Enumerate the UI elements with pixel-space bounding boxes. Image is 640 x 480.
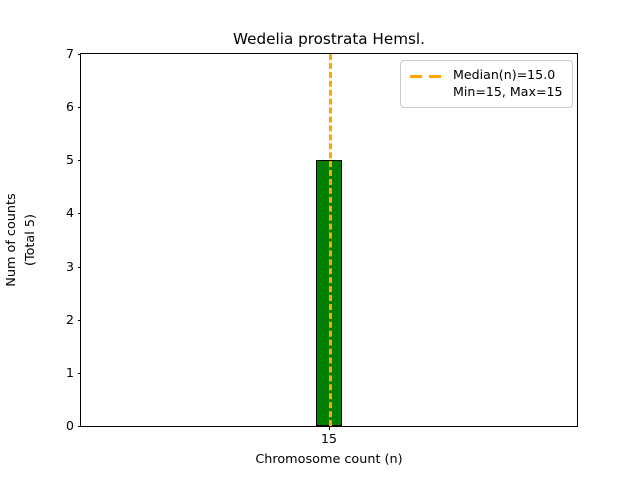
legend: Median(n)=15.0 Min=15, Max=15: [400, 60, 573, 108]
legend-label: Median(n)=15.0 Min=15, Max=15: [453, 67, 563, 100]
y-tick-label: 3: [66, 260, 74, 273]
x-axis-label: Chromosome count (n): [80, 452, 578, 467]
x-tick-label: 15: [321, 433, 337, 446]
x-tick-mark: [329, 426, 330, 430]
figure-canvas: Wedelia prostrata Hemsl. Num of counts (…: [0, 0, 640, 480]
y-tick-label: 2: [66, 313, 74, 326]
plot-area: 01234567 15: [80, 53, 578, 427]
y-tick-label: 1: [66, 367, 74, 380]
median-line: [329, 54, 332, 426]
legend-median-dash-icon: [410, 69, 444, 85]
y-tick-label: 6: [66, 101, 74, 114]
y-tick-label: 7: [66, 48, 74, 61]
y-tick-mark: [78, 426, 82, 427]
chart-title: Wedelia prostrata Hemsl.: [80, 30, 578, 48]
y-axis-label-line1: Num of counts: [2, 193, 21, 286]
y-tick-label: 5: [66, 154, 74, 167]
y-axis-label: Num of counts (Total 5): [2, 193, 40, 286]
legend-label-line1: Median(n)=15.0: [453, 67, 563, 84]
y-tick-label: 4: [66, 207, 74, 220]
plot-inner: [81, 54, 577, 426]
y-tick-label: 0: [66, 420, 74, 433]
y-axis-label-container: Num of counts (Total 5): [0, 53, 42, 427]
y-axis-label-line2: (Total 5): [21, 193, 40, 286]
legend-label-line2: Min=15, Max=15: [453, 84, 563, 101]
